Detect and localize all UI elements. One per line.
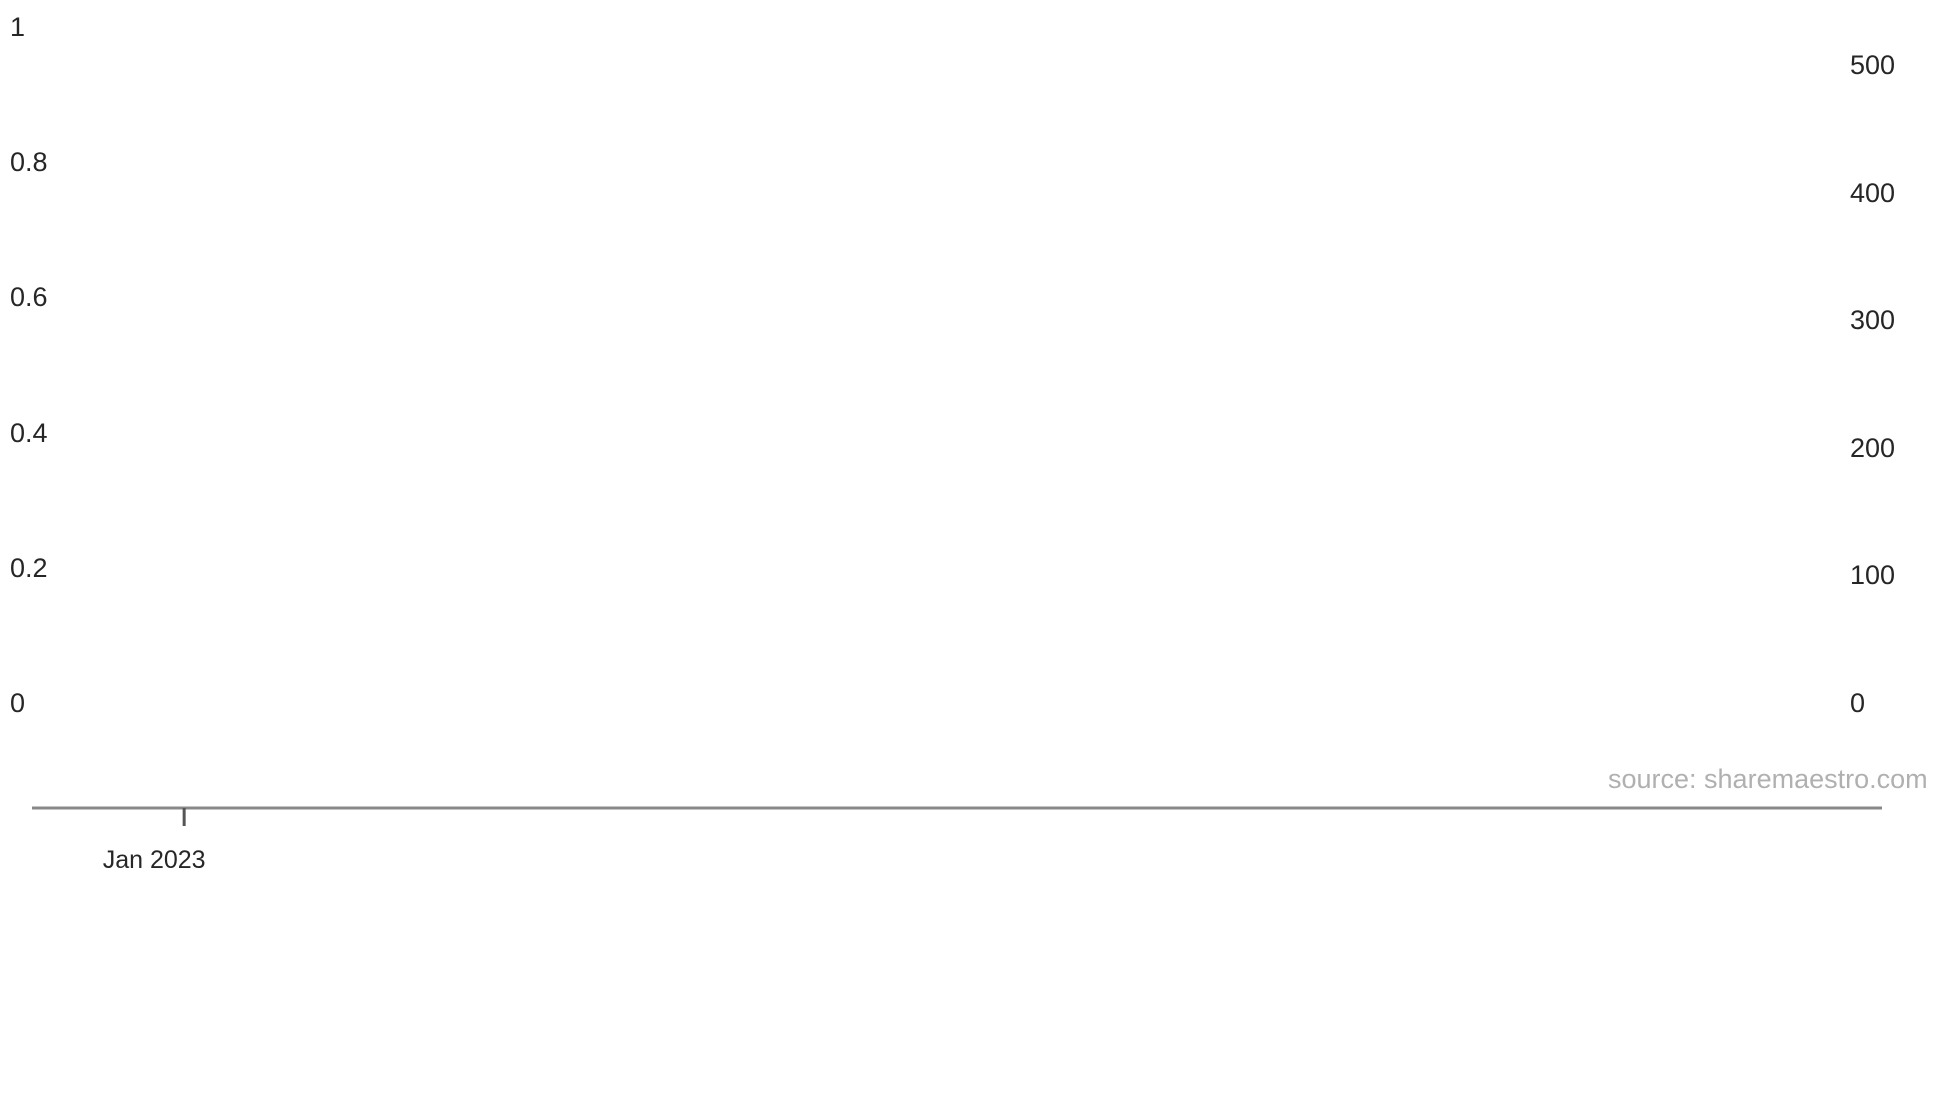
y-right-tick-2: 300 xyxy=(1850,305,1940,336)
plot-area xyxy=(40,30,1840,706)
y-right-tick-1: 400 xyxy=(1850,178,1940,209)
y-right-tick-5: 0 xyxy=(1850,688,1940,719)
x-tick-0: Jan 2023 xyxy=(74,846,234,875)
y-right-tick-3: 200 xyxy=(1850,433,1940,464)
accumulation-marker-row xyxy=(40,706,1840,766)
y-right-tick-4: 100 xyxy=(1850,560,1940,591)
y-right-tick-0: 500 xyxy=(1850,50,1940,81)
source-note: source: sharemaestro.com xyxy=(1608,764,1928,795)
x-axis-spine xyxy=(32,804,1882,844)
chart-root: 10.80.60.40.20 5004003002001000 Jan 2023… xyxy=(0,0,1960,1102)
